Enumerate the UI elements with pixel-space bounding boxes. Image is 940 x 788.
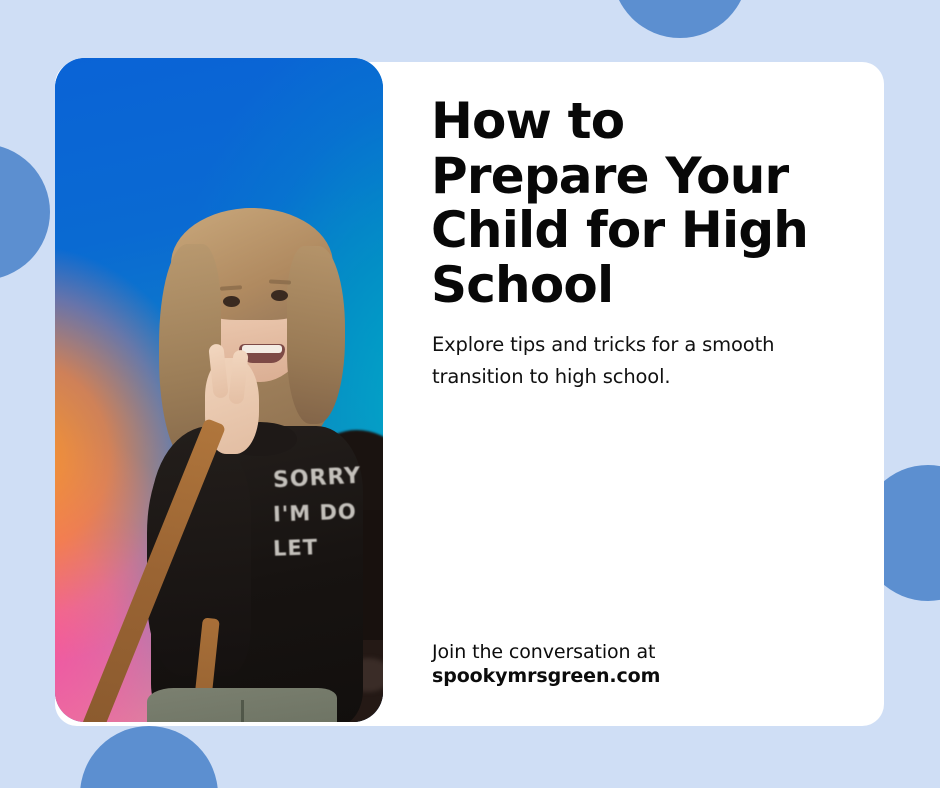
footer-invite-text: Join the conversation at bbox=[432, 640, 832, 664]
decorative-circle-top bbox=[612, 0, 748, 38]
page-title: How to Prepare Your Child for High Schoo… bbox=[431, 94, 831, 312]
hoodie-text-line-2: I'M DO bbox=[273, 500, 358, 527]
trousers-seam bbox=[241, 700, 244, 722]
subtitle: Explore tips and tricks for a smooth tra… bbox=[432, 329, 842, 392]
hoodie-text-line-3: LET bbox=[273, 535, 319, 561]
hoodie-text-line-1: SORRY bbox=[272, 464, 361, 494]
text-column: How to Prepare Your Child for High Schoo… bbox=[431, 62, 851, 726]
hero-photo: SORRY I'M DO LET bbox=[55, 58, 383, 722]
photo-subject-group: SORRY I'M DO LET bbox=[55, 58, 383, 722]
child-teeth bbox=[242, 345, 282, 353]
social-post-graphic: SORRY I'M DO LET How to Prepare Your Chi… bbox=[0, 0, 940, 788]
child-eye-right bbox=[271, 290, 288, 301]
decorative-circle-left bbox=[0, 144, 50, 280]
decorative-circle-bottom bbox=[80, 726, 218, 788]
child-hair-right-lock bbox=[287, 246, 345, 424]
footer-block: Join the conversation at spookymrsgreen.… bbox=[432, 640, 832, 689]
child-eye-left bbox=[223, 296, 240, 307]
footer-website: spookymrsgreen.com bbox=[432, 664, 832, 688]
